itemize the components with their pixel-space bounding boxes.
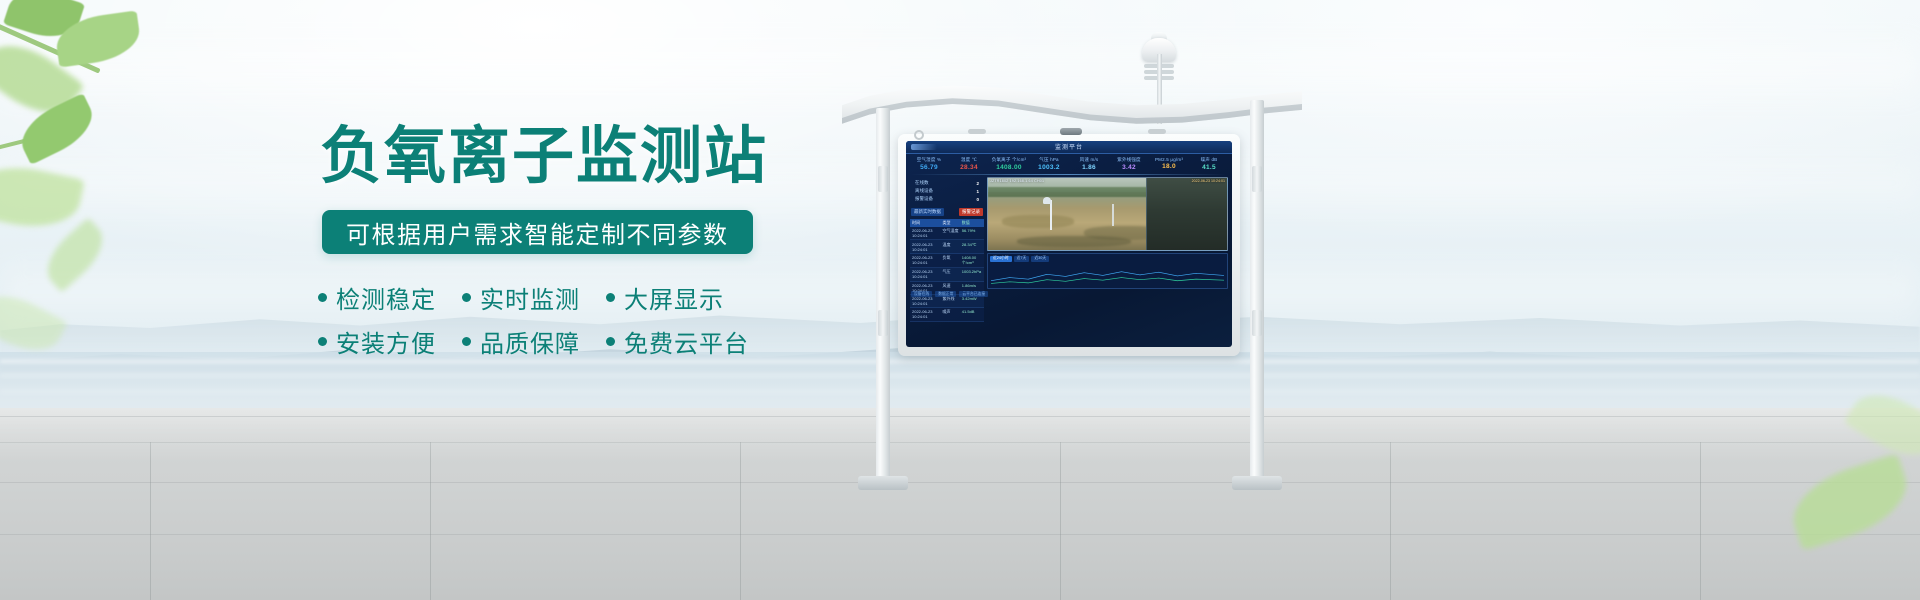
- divider: [911, 174, 1227, 175]
- cell-value: 1003.2hPa: [962, 269, 984, 279]
- metric-card: 噪声 dB 41.5: [1190, 157, 1228, 171]
- subtitle-pill: 可根据用户需求智能定制不同参数: [322, 210, 753, 254]
- metric-label: 紫外线强度: [1110, 157, 1148, 163]
- cell-value: 56.79%: [962, 228, 984, 238]
- feed-ground-patch: [1002, 215, 1074, 228]
- footer-chip-platform: 云平台已连接: [959, 291, 988, 298]
- table-row: 2022-06-23 10:24:01 负氧 1408.00个/cm³: [910, 254, 984, 268]
- cell-time: 2022-06-23 10:24:01: [910, 296, 943, 306]
- table-row: 2022-06-23 10:24:01 空气湿度 56.79%: [910, 227, 984, 240]
- mini-stat-row: 离线设备 1: [913, 187, 981, 195]
- metric-label: 风速 m/s: [1070, 157, 1108, 163]
- feature-label: 免费云平台: [624, 324, 749, 359]
- dashboard-left-column: 在线数 2 离线设备 1 报警设备 0 最新实时数据: [910, 177, 984, 289]
- monitoring-kiosk: 监测平台 空气湿度 % 56.79 温度 ℃ 28.34 负氧离子 个/cm³ …: [820, 20, 1340, 600]
- platform-logo: [911, 144, 937, 150]
- feed-station-mast: [1112, 204, 1114, 226]
- column-header: 数值: [962, 220, 984, 226]
- metric-label: 噪声 dB: [1190, 157, 1228, 163]
- mini-stat-row: 在线数 2: [913, 179, 981, 187]
- feature-item-1-0: 安装方便: [318, 324, 436, 359]
- alarm-badge[interactable]: 报警记录: [959, 208, 983, 216]
- metric-value: 28.34: [950, 164, 988, 171]
- mini-stat-label: 报警设备: [915, 196, 933, 202]
- mount-hook-icon: [1148, 129, 1166, 134]
- metric-label: 负氧离子 个/cm³: [990, 157, 1028, 163]
- cell-value: 1408.00个/cm³: [962, 255, 984, 266]
- cell-value: 28.34℃: [962, 242, 984, 252]
- feed-secondary-pane: [1146, 178, 1227, 250]
- metric-value: 3.42: [1110, 164, 1148, 171]
- display-frame: 监测平台 空气湿度 % 56.79 温度 ℃ 28.34 负氧离子 个/cm³ …: [898, 134, 1240, 356]
- cell-time: 2022-06-23 10:24:01: [910, 255, 943, 266]
- metric-card: 温度 ℃ 28.34: [950, 157, 988, 171]
- feature-item-0-2: 大屏显示: [606, 280, 724, 315]
- bullet-dot-icon: [462, 293, 471, 302]
- feature-row: 安装方便 品质保障 免费云平台: [318, 322, 748, 360]
- page-title: 负氧离子监测站: [320, 126, 768, 188]
- bullet-dot-icon: [606, 337, 615, 346]
- pavement-line: [1700, 442, 1701, 600]
- mini-stat-label: 离线设备: [915, 188, 933, 194]
- pavement-line: [1390, 442, 1391, 600]
- cell-value: 41.5dB: [962, 309, 984, 319]
- table-row: 2022-06-23 10:24:01 噪声 41.5dB: [910, 308, 984, 321]
- cell-type: 温度: [943, 242, 962, 252]
- kiosk-post-right: [1250, 100, 1264, 478]
- camera-housing-icon: [1060, 128, 1082, 135]
- trend-sparkline: [991, 269, 1224, 285]
- metric-card: 空气湿度 % 56.79: [910, 157, 948, 171]
- feed-station-head: [1043, 197, 1051, 204]
- metric-card: PM2.5 μg/m³ 18.0: [1150, 157, 1188, 171]
- bullet-dot-icon: [462, 337, 471, 346]
- dashboard-title: 监测平台: [1055, 142, 1083, 151]
- chart-tab-24h[interactable]: 近24小时: [990, 256, 1012, 263]
- banner-text-block: 负氧离子监测站 可根据用户需求智能定制不同参数 检测稳定 实时监测 大屏显示 安…: [0, 0, 760, 600]
- mini-stat-value: 0: [976, 197, 979, 202]
- data-table: 时间 类型 数值 2022-06-23 10:24:01 空气湿度 56.79%…: [910, 219, 984, 322]
- feature-label: 检测稳定: [336, 280, 436, 315]
- cell-type: 紫外线: [943, 296, 962, 306]
- metric-card: 风速 m/s 1.86: [1070, 157, 1108, 171]
- mini-stats-panel: 在线数 2 离线设备 1 报警设备 0: [910, 177, 984, 205]
- table-head-row: 时间 类型 数值: [910, 219, 984, 227]
- bullet-dot-icon: [606, 293, 615, 302]
- footer-chip-data: 数据正常: [935, 291, 956, 298]
- dashboard-screen[interactable]: 监测平台 空气湿度 % 56.79 温度 ℃ 28.34 负氧离子 个/cm³ …: [906, 141, 1232, 347]
- metric-value: 1003.2: [1030, 164, 1068, 171]
- cell-time: 2022-06-23 10:24:01: [910, 269, 943, 279]
- metric-card: 气压 hPa 1003.2: [1030, 157, 1068, 171]
- feature-item-1-1: 品质保障: [462, 324, 580, 359]
- mini-stat-value: 2: [976, 181, 979, 186]
- feature-label: 实时监测: [480, 280, 580, 315]
- cell-time: 2022-06-23 10:24:01: [910, 228, 943, 238]
- feature-label: 安装方便: [336, 324, 436, 359]
- kiosk-post-base: [1232, 476, 1282, 490]
- feed-overlay-left: JZTR1802 192.168.1.64 CH01: [990, 179, 1044, 183]
- cell-time: 2022-06-23 10:24:01: [910, 309, 943, 319]
- column-header: 时间: [910, 220, 943, 226]
- dashboard-body: 在线数 2 离线设备 1 报警设备 0 最新实时数据: [906, 177, 1232, 289]
- camera-feed[interactable]: JZTR1802 192.168.1.64 CH01 2022-06-23 10…: [987, 177, 1228, 251]
- chart-tab-7d[interactable]: 近7天: [1014, 256, 1030, 263]
- metric-value: 1408.00: [990, 164, 1028, 171]
- column-header: 类型: [943, 220, 962, 226]
- table-title: 最新实时数据: [911, 208, 944, 216]
- metric-label: 空气湿度 %: [910, 157, 948, 163]
- mount-hook-icon: [968, 129, 986, 134]
- kiosk-brace: [878, 310, 888, 336]
- feed-overlay-right: 2022-06-23 10:24:01: [1192, 179, 1225, 183]
- feature-item-0-0: 检测稳定: [318, 280, 436, 315]
- kiosk-post-base: [858, 476, 908, 490]
- metric-label: 温度 ℃: [950, 157, 988, 163]
- table-header-bar: 最新实时数据 报警记录: [910, 208, 984, 216]
- feature-label: 品质保障: [480, 324, 580, 359]
- trend-chart-panel: 近24小时 近7天 近30天: [987, 253, 1228, 289]
- metric-value: 41.5: [1190, 164, 1228, 171]
- lock-ring-icon: [914, 130, 924, 140]
- feature-label: 大屏显示: [624, 280, 724, 315]
- cell-type: 噪声: [943, 309, 962, 319]
- cell-type: 负氧: [943, 255, 962, 266]
- bullet-dot-icon: [318, 293, 327, 302]
- footer-chip-online: 设备在线: [911, 291, 932, 298]
- bullet-dot-icon: [318, 337, 327, 346]
- mini-stat-row: 报警设备 0: [913, 195, 981, 203]
- mini-stat-label: 在线数: [915, 180, 929, 186]
- dashboard-right-column: JZTR1802 192.168.1.64 CH01 2022-06-23 10…: [987, 177, 1228, 289]
- feature-list: 检测稳定 实时监测 大屏显示 安装方便 品质保障: [318, 278, 748, 360]
- metric-label: 气压 hPa: [1030, 157, 1068, 163]
- mini-stat-value: 1: [976, 189, 979, 194]
- cell-type: 空气湿度: [943, 228, 962, 238]
- kiosk-brace: [1252, 310, 1262, 336]
- metric-card: 紫外线强度 3.42: [1110, 157, 1148, 171]
- chart-tab-bar: 近24小时 近7天 近30天: [988, 254, 1227, 264]
- metric-cards: 空气湿度 % 56.79 温度 ℃ 28.34 负氧离子 个/cm³ 1408.…: [906, 154, 1232, 173]
- metric-value: 18.0: [1150, 163, 1188, 170]
- kiosk-brace: [1252, 166, 1262, 192]
- metric-card: 负氧离子 个/cm³ 1408.00: [990, 157, 1028, 171]
- feature-item-0-1: 实时监测: [462, 280, 580, 315]
- metric-value: 56.79: [910, 164, 948, 171]
- cell-time: 2022-06-23 10:24:01: [910, 242, 943, 252]
- chart-tab-30d[interactable]: 近30天: [1031, 256, 1049, 263]
- cell-value: 3.42mW: [962, 296, 984, 306]
- kiosk-brace: [878, 166, 888, 192]
- feed-ground-patch: [1017, 236, 1132, 248]
- dashboard-header: 监测平台: [906, 141, 1232, 154]
- feature-item-1-2: 免费云平台: [606, 324, 749, 359]
- table-row: 2022-06-23 10:24:01 气压 1003.2hPa: [910, 268, 984, 281]
- feed-station-mast: [1050, 200, 1052, 230]
- cell-type: 气压: [943, 269, 962, 279]
- metric-value: 1.86: [1070, 164, 1108, 171]
- table-row: 2022-06-23 10:24:01 温度 28.34℃: [910, 240, 984, 253]
- feature-row: 检测稳定 实时监测 大屏显示: [318, 278, 748, 316]
- kiosk-post-left: [876, 108, 890, 478]
- metric-label: PM2.5 μg/m³: [1150, 157, 1188, 162]
